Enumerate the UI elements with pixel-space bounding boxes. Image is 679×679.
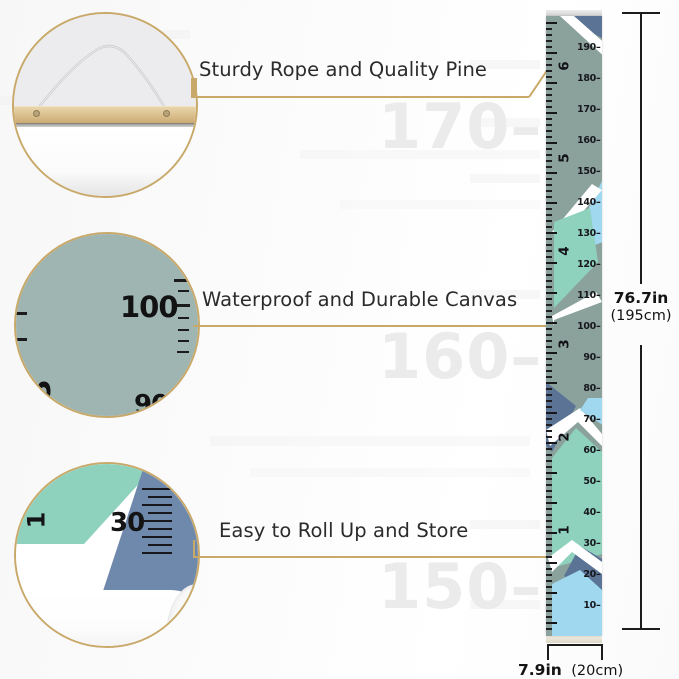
leader-line-waterproof [193, 325, 549, 327]
annotation-roll-store: Easy to Roll Up and Store [219, 519, 468, 542]
ruler-cm-label-150: 150– [577, 166, 600, 177]
ruler-cm-label-10: 10– [583, 600, 600, 611]
background-streak [470, 520, 540, 529]
annotation-waterproof-canvas: Waterproof and Durable Canvas [202, 288, 517, 311]
dimension-line-height-lower [640, 345, 642, 629]
screw-right-icon [163, 110, 170, 117]
dimension-line-width [547, 644, 602, 646]
ruler-foot-label-1: 1 [557, 525, 573, 534]
background-streak [470, 174, 540, 183]
ruler-tick-column [546, 16, 559, 636]
ruler-cm-label-110: 110– [577, 290, 600, 301]
ruler-cm-label-100: 100– [577, 321, 600, 332]
ruler-cm-label-70: 70– [583, 414, 600, 425]
ruler-foot-label-5: 5 [557, 153, 573, 162]
dimension-width-metric: (20cm) [571, 663, 623, 679]
ruler-cm-label-190: 190– [577, 42, 600, 53]
ruler-detail-number-30: 30 [110, 508, 144, 538]
ruler-detail-number-1: 1 [22, 512, 50, 529]
callout-circle-waterproof-canvas: 100 3 90 [14, 232, 200, 418]
ruler-detail-number-3: 3 [23, 379, 58, 400]
watermark-150: 150– [378, 550, 542, 623]
ruler-cm-label-50: 50– [583, 476, 600, 487]
callout-circle-roll-store: 30 1 [14, 462, 200, 648]
ruler-cm-label-140: 140– [577, 197, 600, 208]
dimension-label-height: 76.7in (195cm) [606, 290, 676, 324]
ruler-cm-label-180: 180– [577, 73, 600, 84]
dimension-cap-bottom [622, 628, 660, 630]
background-streak [210, 436, 530, 446]
ruler-cm-label-60: 60– [583, 445, 600, 456]
pine-wood-bar [12, 106, 198, 124]
ruler-detail-number-90: 90 [134, 390, 168, 418]
background-streak [250, 468, 530, 477]
ruler-cm-label-130: 130– [577, 228, 600, 239]
dimension-height-metric: (195cm) [606, 308, 676, 325]
ruler-cm-label-40: 40– [583, 507, 600, 518]
ruler-foot-label-6: 6 [557, 61, 573, 70]
ruler-bottom-rail [546, 636, 602, 643]
ruler-foot-label-4: 4 [557, 246, 573, 255]
ruler-cm-label-170: 170– [577, 104, 600, 115]
ruler-foot-label-3: 3 [557, 339, 573, 348]
callout-circle-rope-pine [12, 12, 198, 198]
canvas-sheet [12, 127, 198, 198]
screw-left-icon [33, 110, 40, 117]
leader-line-roll-store-riser [193, 540, 195, 557]
watermark-170: 170– [378, 90, 542, 163]
growth-chart-ruler: 6 5 4 3 2 1 190– 180– 170– 160– 150– 140… [546, 16, 602, 636]
dimension-label-width: 7.9in (20cm) [518, 662, 623, 679]
leader-line-rope-pine [191, 96, 529, 98]
annotation-rope-pine: Sturdy Rope and Quality Pine [199, 58, 487, 81]
leader-line-rope-pine-stub [191, 78, 197, 98]
ruler-foot-label-2: 2 [557, 432, 573, 441]
ruler-cm-label-90: 90– [583, 352, 600, 363]
background-streak [340, 200, 540, 209]
dimension-cap-left [547, 644, 549, 660]
ruler-cm-label-20: 20– [583, 569, 600, 580]
dimension-height-imperial: 76.7in [606, 290, 676, 308]
ruler-cm-label-160: 160– [577, 135, 600, 146]
dimension-cap-right [601, 644, 603, 660]
leader-line-roll-store [193, 556, 549, 558]
ruler-cm-label-30: 30– [583, 538, 600, 549]
dimension-line-height-upper [640, 12, 642, 284]
watermark-160: 160– [378, 320, 542, 393]
infographic-canvas: 170– 160– 150– [0, 0, 679, 679]
ruler-cm-label-80: 80– [583, 383, 600, 394]
ruler-detail-number-100: 100 [120, 290, 178, 324]
ruler-cm-label-120: 120– [577, 259, 600, 270]
dimension-width-imperial: 7.9in [518, 661, 562, 679]
